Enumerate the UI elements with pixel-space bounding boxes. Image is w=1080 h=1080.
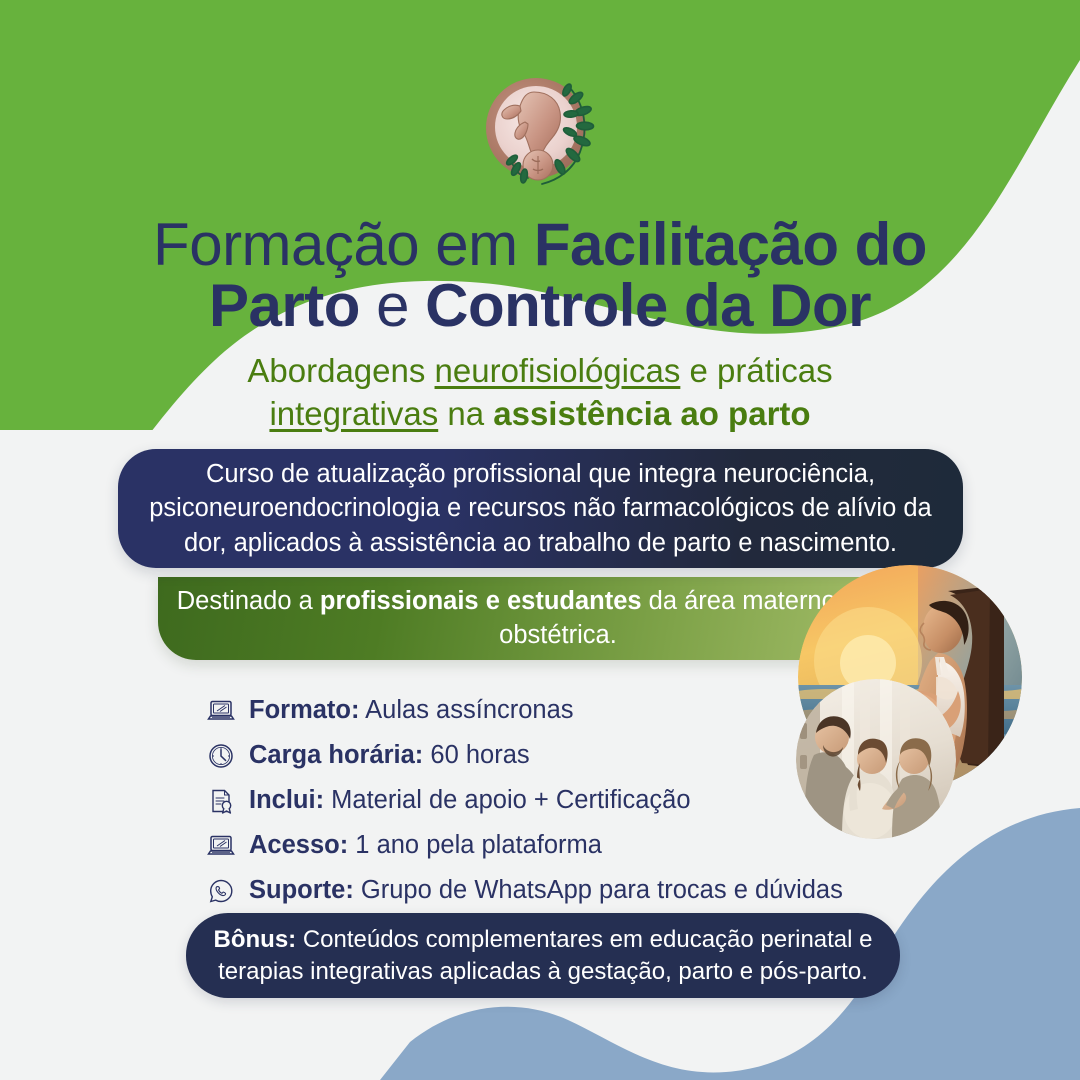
subtitle-l2-underline: integrativas [269,395,438,432]
page-subtitle: Abordagens neurofisiológicas e práticas … [0,350,1080,436]
feature-label-carga-horaria: Carga horária: [249,741,423,769]
clock-icon [206,741,236,771]
feature-label-inclui: Inclui: [249,786,324,814]
title-line1-bold: Facilitação do [534,211,927,278]
title-line-2: Parto e Controle da Dor [0,275,1080,336]
feature-item-formato: Formato: Aulas assíncronas [206,688,906,733]
fetus-laurel-logo [472,66,608,192]
title-line1-light: Formação em [153,211,534,278]
course-description-text: Curso de atualização profissional que in… [118,457,963,559]
feature-label-formato: Formato: [249,696,360,724]
feature-text-carga-horaria: Carga horária: 60 horas [249,741,530,769]
poster-canvas: Formação em Facilitação do Parto e Contr… [0,0,1080,1080]
course-features-list: Formato: Aulas assíncronas Carga horária… [206,688,906,913]
whatsapp-icon [206,876,236,906]
subtitle-l1-a: Abordagens [247,352,434,389]
feature-item-acesso: Acesso: 1 ano pela plataforma [206,823,906,868]
subtitle-l1-underline: neurofisiológicas [435,352,681,389]
subtitle-l2-bold: assistência ao parto [493,395,810,432]
subtitle-l2-a: na [438,395,493,432]
laptop-icon [206,696,236,726]
feature-text-suporte: Suporte: Grupo de WhatsApp para trocas e… [249,876,843,904]
feature-text-formato: Formato: Aulas assíncronas [249,696,574,724]
subtitle-l1-b: e práticas [680,352,832,389]
subtitle-line-1: Abordagens neurofisiológicas e práticas [0,350,1080,393]
feature-label-suporte: Suporte: [249,876,354,904]
bonus-text: Bônus: Conteúdos complementares em educa… [186,924,900,987]
audience-prefix: Destinado a [177,587,320,615]
feature-item-suporte: Suporte: Grupo de WhatsApp para trocas e… [206,868,906,913]
feature-item-carga-horaria: Carga horária: 60 horas [206,733,906,778]
bonus-value: Conteúdos complementares em educação per… [218,926,872,985]
title-line2-light: e [360,272,425,339]
audience-highlight: profissionais e estudantes [320,587,642,615]
certificate-icon [206,786,236,816]
title-line2-bold-a: Parto [209,272,360,339]
feature-value-acesso: 1 ano pela plataforma [348,831,602,859]
feature-text-acesso: Acesso: 1 ano pela plataforma [249,831,602,859]
page-title: Formação em Facilitação do Parto e Contr… [0,214,1080,336]
course-description-card: Curso de atualização profissional que in… [118,449,963,568]
feature-value-suporte: Grupo de WhatsApp para trocas e dúvidas [354,876,843,904]
feature-value-inclui: Material de apoio + Certificação [324,786,690,814]
feature-text-inclui: Inclui: Material de apoio + Certificação [249,786,691,814]
title-line-1: Formação em Facilitação do [0,214,1080,275]
feature-label-acesso: Acesso: [249,831,348,859]
laptop-icon [206,831,236,861]
feature-value-formato: Aulas assíncronas [360,696,574,724]
bonus-card: Bônus: Conteúdos complementares em educa… [186,913,900,998]
subtitle-line-2: integrativas na assistência ao parto [0,393,1080,436]
bonus-label: Bônus: [214,926,297,953]
title-line2-bold-b: Controle da Dor [425,272,871,339]
feature-value-carga-horaria: 60 horas [423,741,529,769]
feature-item-inclui: Inclui: Material de apoio + Certificação [206,778,906,823]
